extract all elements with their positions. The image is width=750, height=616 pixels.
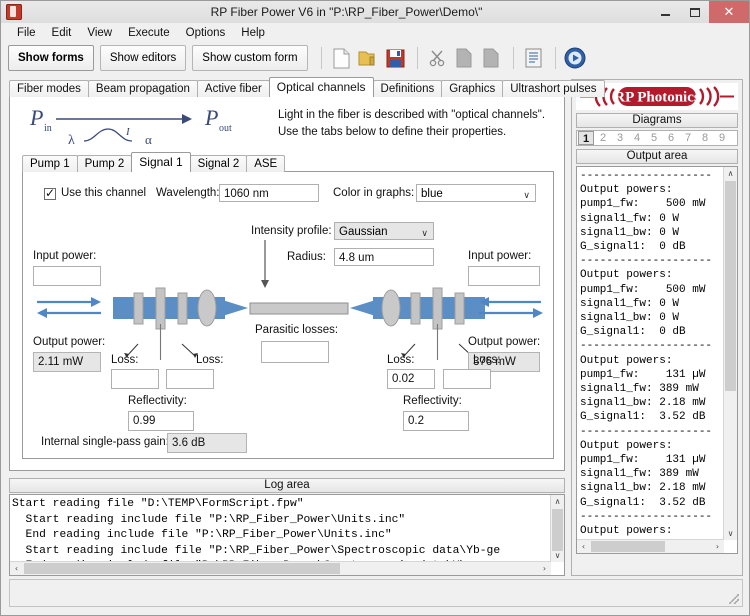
- output-scroll-up-icon[interactable]: ∧: [724, 167, 737, 180]
- optical-channels-panel: P in P out λ I α Light in the fiber is d…: [9, 96, 565, 471]
- log-area-body[interactable]: Start reading file "D:\TEMP\FormScript.f…: [9, 494, 565, 576]
- output-vertical-thumb[interactable]: [725, 181, 736, 391]
- svg-text:out: out: [219, 123, 232, 134]
- menu-execute[interactable]: Execute: [120, 26, 178, 40]
- output-scroll-down-icon[interactable]: ∨: [724, 527, 737, 540]
- color-in-graphs-label: Color in graphs:: [333, 187, 414, 199]
- output-area-text: -------------------- Output powers: pump…: [577, 167, 737, 552]
- use-this-channel-label: Use this channel: [61, 187, 146, 199]
- svg-text:λ: λ: [68, 133, 75, 148]
- tab-signal-2[interactable]: Signal 2: [190, 155, 248, 172]
- diagram-button-3[interactable]: 3: [612, 131, 628, 145]
- tab-ultrashort-pulses[interactable]: Ultrashort pulses: [502, 80, 604, 97]
- internal-gain-label: Internal single-pass gain:: [41, 436, 169, 448]
- menu-edit[interactable]: Edit: [44, 26, 80, 40]
- svg-text:α: α: [145, 132, 152, 147]
- right-panel: RP Photonics Diagrams 1 2 3 4 5 6 7 8 9 …: [571, 79, 743, 576]
- tab-signal-1[interactable]: Signal 1: [131, 152, 190, 172]
- open-folder-icon[interactable]: [356, 45, 381, 71]
- toolbar-separator-2: [417, 47, 418, 69]
- svg-text:P: P: [29, 105, 43, 130]
- menu-options[interactable]: Options: [178, 26, 234, 40]
- right-loss1-label: Loss:: [387, 354, 415, 366]
- status-bar: [9, 579, 743, 607]
- log-vertical-thumb[interactable]: [552, 509, 563, 551]
- menu-bar: File Edit View Execute Options Help: [1, 23, 749, 42]
- title-bar: RP Fiber Power V6 in "P:\RP_Fiber_Power\…: [1, 1, 749, 24]
- tab-graphics[interactable]: Graphics: [441, 80, 503, 97]
- diagram-button-5[interactable]: 5: [646, 131, 662, 145]
- left-loss1-label: Loss:: [111, 354, 139, 366]
- channel-tab-strip: Pump 1 Pump 2 Signal 1 Signal 2 ASE: [22, 154, 562, 172]
- log-vertical-scrollbar[interactable]: ∧ ∨: [550, 495, 564, 562]
- right-loss2-label: Loss:: [473, 354, 501, 366]
- log-scroll-left-icon[interactable]: ‹: [10, 562, 23, 575]
- color-in-graphs-select[interactable]: blue ∨: [416, 184, 536, 202]
- window-controls: ✕: [651, 1, 749, 23]
- close-button[interactable]: ✕: [709, 1, 749, 23]
- intensity-profile-value: Gaussian: [339, 226, 388, 238]
- close-icon: ✕: [724, 6, 735, 19]
- output-scroll-right-icon[interactable]: ›: [711, 540, 724, 553]
- diagram-button-1[interactable]: 1: [578, 131, 594, 145]
- tab-pump-2[interactable]: Pump 2: [77, 155, 133, 172]
- tab-beam-propagation[interactable]: Beam propagation: [88, 80, 198, 97]
- log-area-header: Log area: [9, 478, 565, 493]
- tab-pump-1[interactable]: Pump 1: [22, 155, 78, 172]
- tab-active-fiber[interactable]: Active fiber: [197, 80, 270, 97]
- log-area: Log area Start reading file "D:\TEMP\For…: [9, 478, 565, 576]
- menu-help[interactable]: Help: [233, 26, 273, 40]
- tab-fiber-modes[interactable]: Fiber modes: [9, 80, 89, 97]
- svg-text:RP Photonics: RP Photonics: [614, 90, 700, 106]
- left-reflectivity-input[interactable]: 0.99: [128, 411, 194, 431]
- save-disk-icon[interactable]: [383, 45, 408, 71]
- diagram-button-9[interactable]: 9: [714, 131, 730, 145]
- diagram-button-4[interactable]: 4: [629, 131, 645, 145]
- minimize-button[interactable]: [651, 1, 680, 23]
- left-output-power-value: 2.11 mW: [33, 352, 101, 372]
- chevron-down-icon: ∨: [523, 189, 530, 203]
- left-loss1-input[interactable]: [111, 369, 159, 389]
- left-loss2-label: Loss:: [196, 354, 224, 366]
- run-play-icon[interactable]: [563, 45, 588, 71]
- left-output-power-label: Output power:: [33, 336, 105, 348]
- color-in-graphs-value: blue: [421, 188, 443, 200]
- parasitic-losses-label: Parasitic losses:: [255, 324, 338, 336]
- wavelength-input[interactable]: 1060 nm: [219, 184, 319, 202]
- radius-input[interactable]: 4.8 um: [334, 248, 434, 266]
- fiber-schematic-icon: P in P out λ I α: [22, 103, 267, 151]
- diagrams-header[interactable]: Diagrams: [576, 113, 738, 128]
- show-custom-form-button[interactable]: Show custom form: [192, 45, 307, 71]
- right-reflectivity-input[interactable]: 0.2: [403, 411, 469, 431]
- description-line-2: Use the tabs below to define their prope…: [278, 124, 558, 141]
- log-scroll-up-icon[interactable]: ∧: [551, 495, 564, 508]
- svg-text:P: P: [204, 105, 218, 130]
- show-editors-button[interactable]: Show editors: [100, 45, 186, 71]
- diagram-button-7[interactable]: 7: [680, 131, 696, 145]
- right-loss2-input[interactable]: [443, 369, 491, 389]
- log-scroll-right-icon[interactable]: ›: [538, 562, 551, 575]
- output-area-body[interactable]: -------------------- Output powers: pump…: [576, 166, 738, 554]
- copy-icon[interactable]: [452, 45, 477, 71]
- menu-file[interactable]: File: [9, 26, 44, 40]
- output-scroll-left-icon[interactable]: ‹: [577, 540, 590, 553]
- toolbar: Show forms Show editors Show custom form: [1, 42, 749, 74]
- show-forms-button[interactable]: Show forms: [8, 45, 94, 71]
- document-list-icon[interactable]: [521, 45, 546, 71]
- right-loss1-input[interactable]: 0.02: [387, 369, 435, 389]
- output-area-header[interactable]: Output area: [576, 149, 738, 164]
- radius-label: Radius:: [287, 251, 326, 263]
- paste-icon[interactable]: [479, 45, 504, 71]
- internal-gain-value: 3.6 dB: [167, 433, 247, 453]
- log-horizontal-thumb[interactable]: [24, 563, 340, 574]
- left-loss2-input[interactable]: [166, 369, 214, 389]
- signal-1-panel: Use this channel Wavelength: 1060 nm Col…: [22, 171, 554, 459]
- right-input-power-label: Input power:: [468, 250, 531, 262]
- svg-text:I: I: [125, 126, 131, 138]
- window-title: RP Fiber Power V6 in "P:\RP_Fiber_Power\…: [22, 5, 651, 19]
- diagram-button-2[interactable]: 2: [595, 131, 611, 145]
- main-tab-strip: Fiber modes Beam propagation Active fibe…: [9, 79, 565, 97]
- chevron-down-icon-2: ∨: [421, 227, 428, 241]
- description-line-1: Light in the fiber is described with "op…: [278, 107, 558, 124]
- app-icon: [6, 4, 22, 20]
- cut-scissors-icon[interactable]: [425, 45, 450, 71]
- intensity-profile-label: Intensity profile:: [251, 225, 332, 237]
- use-this-channel-checkbox[interactable]: [44, 188, 56, 200]
- svg-text:in: in: [44, 123, 52, 134]
- tab-optical-channels[interactable]: Optical channels: [269, 77, 374, 97]
- maximize-button[interactable]: [680, 1, 709, 23]
- right-reflectivity-label: Reflectivity:: [403, 395, 462, 407]
- diagram-button-8[interactable]: 8: [697, 131, 713, 145]
- left-reflectivity-label: Reflectivity:: [128, 395, 187, 407]
- optical-channels-description: Light in the fiber is described with "op…: [278, 107, 558, 141]
- output-horizontal-scrollbar[interactable]: ‹ ›: [577, 539, 724, 553]
- log-horizontal-scrollbar[interactable]: ‹ ›: [10, 561, 551, 575]
- toolbar-separator-4: [555, 47, 556, 69]
- resize-grip-icon[interactable]: [729, 594, 739, 604]
- right-output-power-label: Output power:: [468, 336, 540, 348]
- intensity-profile-select[interactable]: Gaussian ∨: [334, 222, 434, 240]
- toolbar-separator: [321, 47, 322, 69]
- toolbar-separator-3: [513, 47, 514, 69]
- wavelength-label: Wavelength:: [156, 187, 220, 199]
- menu-view[interactable]: View: [79, 26, 120, 40]
- diagram-button-6[interactable]: 6: [663, 131, 679, 145]
- diagram-number-row: 1 2 3 4 5 6 7 8 9: [576, 130, 738, 146]
- tab-ase[interactable]: ASE: [246, 155, 285, 172]
- parasitic-losses-input[interactable]: [261, 341, 329, 363]
- new-file-icon[interactable]: [329, 45, 354, 71]
- tab-definitions[interactable]: Definitions: [373, 80, 443, 97]
- output-horizontal-thumb[interactable]: [591, 541, 665, 552]
- application-window: RP Fiber Power V6 in "P:\RP_Fiber_Power\…: [0, 0, 750, 616]
- left-input-power-label: Input power:: [33, 250, 96, 262]
- output-vertical-scrollbar[interactable]: ∧ ∨: [723, 167, 737, 540]
